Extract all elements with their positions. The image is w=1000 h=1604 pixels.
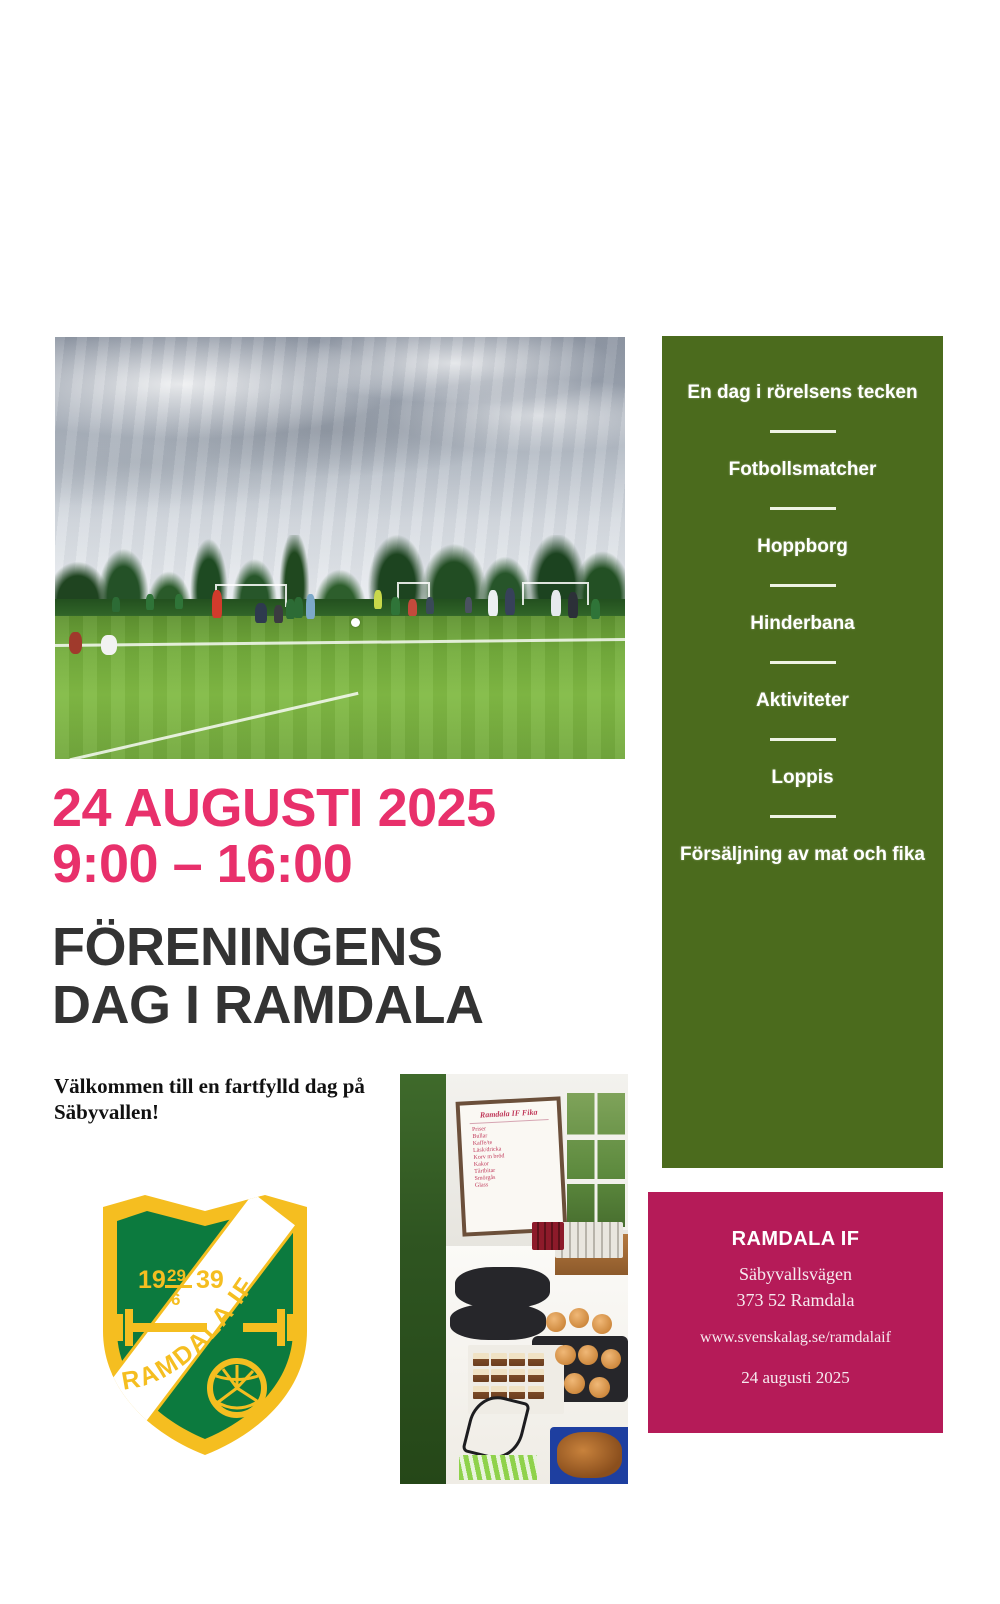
fika-photo-pastry xyxy=(564,1373,585,1394)
contact-org-name: RAMDALA IF xyxy=(662,1228,929,1251)
activity-separator xyxy=(770,661,836,664)
activity-item-1: Fotbollsmatcher xyxy=(680,457,925,483)
activity-separator xyxy=(770,738,836,741)
contact-street: Säbyvallsvägen xyxy=(662,1261,929,1287)
activity-separator xyxy=(770,815,836,818)
activity-item-5: Loppis xyxy=(680,765,925,791)
photo-person xyxy=(212,590,222,618)
fika-photo-cake-slice xyxy=(509,1369,525,1382)
fika-photo-jars xyxy=(532,1222,564,1251)
fika-photo-window xyxy=(564,1090,628,1229)
activity-item-0: En dag i rörelsens tecken xyxy=(680,380,925,406)
photo-person xyxy=(101,635,117,655)
contact-website[interactable]: www.svenskalag.se/ramdalaif xyxy=(662,1325,929,1351)
photo-goal xyxy=(215,584,287,607)
fika-photo-cake-slice xyxy=(473,1369,489,1382)
photo-person xyxy=(505,588,515,615)
fika-table-photo: Ramdala IF Fika Priser Bullar Kaffe/te L… xyxy=(400,1074,628,1484)
photo-person xyxy=(274,605,283,623)
page-title-line-2: DAG I RAMDALA xyxy=(52,976,672,1034)
activity-item-6: Försäljning av mat och fika xyxy=(680,842,925,868)
activities-panel: En dag i rörelsens tecken Fotbollsmatche… xyxy=(662,336,943,1168)
svg-text:29: 29 xyxy=(167,1266,186,1285)
photo-person xyxy=(112,597,120,612)
photo-person xyxy=(551,590,561,616)
fika-photo-cake-slice xyxy=(491,1369,507,1382)
svg-text:19: 19 xyxy=(138,1266,166,1294)
activity-item-3: Hinderbana xyxy=(680,611,925,637)
fika-photo-cake-slice xyxy=(509,1353,525,1366)
activity-separator xyxy=(770,430,836,433)
poster-canvas: 24 AUGUSTI 2025 9:00 – 16:00 FÖRENINGENS… xyxy=(0,0,1000,1604)
fika-photo-blue-tray xyxy=(550,1427,628,1484)
photo-person xyxy=(568,592,578,618)
fika-photo-pastry xyxy=(589,1377,610,1398)
photo-person xyxy=(306,594,315,619)
activity-separator xyxy=(770,584,836,587)
photo-person xyxy=(488,590,498,616)
fika-photo-cake-slice xyxy=(509,1386,525,1399)
photo-person xyxy=(69,632,82,654)
contact-event-date: 24 augusti 2025 xyxy=(662,1365,929,1391)
event-time: 9:00 – 16:00 xyxy=(52,836,652,892)
page-title-line-1: FÖRENINGENS xyxy=(52,918,672,976)
fika-photo-packets xyxy=(459,1455,537,1480)
photo-person xyxy=(175,594,183,609)
photo-grass xyxy=(55,616,625,759)
fika-photo-tray xyxy=(455,1267,551,1308)
activity-separator xyxy=(770,507,836,510)
event-date: 24 AUGUSTI 2025 xyxy=(52,780,652,836)
fika-menu-sign: Ramdala IF Fika Priser Bullar Kaffe/te L… xyxy=(456,1096,568,1237)
event-date-block: 24 AUGUSTI 2025 9:00 – 16:00 xyxy=(52,780,652,892)
svg-text:6: 6 xyxy=(171,1290,180,1309)
fika-photo-cake-slice xyxy=(473,1353,489,1366)
fika-photo-cake-slice xyxy=(528,1369,544,1382)
photo-person xyxy=(255,603,267,623)
photo-person xyxy=(465,597,472,613)
fika-photo-tray xyxy=(450,1304,546,1341)
photo-person xyxy=(391,597,400,615)
photo-person xyxy=(294,597,303,618)
fika-photo-cake-slice xyxy=(473,1386,489,1399)
fika-photo-cake-slice xyxy=(528,1353,544,1366)
fika-photo-pastry xyxy=(555,1345,576,1366)
photo-football xyxy=(351,618,360,627)
contact-panel: RAMDALA IF Säbyvallsvägen 373 52 Ramdala… xyxy=(648,1192,943,1433)
fika-menu-title: Ramdala IF Fika xyxy=(465,1106,552,1120)
page-title: FÖRENINGENS DAG I RAMDALA xyxy=(52,918,672,1034)
photo-person xyxy=(374,590,382,609)
fika-photo-grass xyxy=(400,1074,452,1484)
photo-person xyxy=(591,599,600,619)
fika-photo-drinks xyxy=(555,1222,623,1259)
fika-photo-cake-slice xyxy=(491,1353,507,1366)
photo-person xyxy=(146,594,154,610)
welcome-text: Välkommen till en fartfylld dag på Säbyv… xyxy=(54,1073,384,1125)
photo-person xyxy=(426,597,434,614)
svg-text:39: 39 xyxy=(196,1266,224,1294)
club-logo: 19 29 6 39 xyxy=(85,1183,325,1463)
contact-postal: 373 52 Ramdala xyxy=(662,1287,929,1313)
fika-photo-cake-slice xyxy=(528,1386,544,1399)
activity-item-4: Aktiviteter xyxy=(680,688,925,714)
football-field-photo xyxy=(55,337,625,759)
photo-person xyxy=(408,599,417,616)
activity-item-2: Hoppborg xyxy=(680,534,925,560)
